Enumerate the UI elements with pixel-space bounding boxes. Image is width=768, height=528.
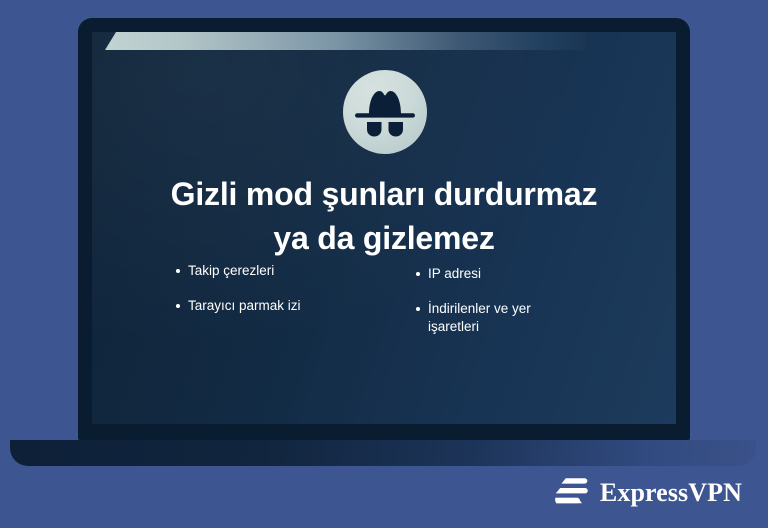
bullet-columns: Takip çerezleri Tarayıcı parmak izi IP a… <box>176 262 656 353</box>
bullet-dot-icon <box>176 269 180 273</box>
bullet-dot-icon <box>416 307 420 311</box>
bullet-dot-icon <box>416 272 420 276</box>
brand-name: ExpressVPN <box>600 478 742 508</box>
list-item-label: İndirilenler ve yer işaretleri <box>428 301 531 334</box>
bullet-column-right: IP adresi İndirilenler ve yer işaretleri <box>416 262 656 353</box>
page-title-line-1: Gizli mod şunları durdurmaz <box>112 172 656 216</box>
laptop-screen: Gizli mod şunları durdurmaz ya da gizlem… <box>92 32 676 424</box>
bullet-dot-icon <box>176 304 180 308</box>
list-item-label: IP adresi <box>428 266 481 281</box>
list-item: İndirilenler ve yer işaretleri <box>416 300 580 336</box>
expressvpn-e-logo-icon <box>553 476 589 510</box>
list-item-label: Tarayıcı parmak izi <box>188 298 301 313</box>
decorative-stripe <box>105 32 585 50</box>
list-item: Takip çerezleri <box>176 262 363 280</box>
brand-logo: ExpressVPN <box>553 476 742 510</box>
list-item: Tarayıcı parmak izi <box>176 297 363 315</box>
list-item: IP adresi <box>416 265 580 283</box>
page-title: Gizli mod şunları durdurmaz ya da gizlem… <box>112 172 656 260</box>
page-title-line-2: ya da gizlemez <box>112 216 656 260</box>
bullet-column-left: Takip çerezleri Tarayıcı parmak izi <box>176 262 416 332</box>
incognito-hat-glasses-icon <box>343 70 427 154</box>
slide-canvas: Gizli mod şunları durdurmaz ya da gizlem… <box>0 0 768 528</box>
list-item-label: Takip çerezleri <box>188 263 274 278</box>
laptop-base <box>10 440 756 466</box>
slide-content: Gizli mod şunları durdurmaz ya da gizlem… <box>92 32 676 424</box>
